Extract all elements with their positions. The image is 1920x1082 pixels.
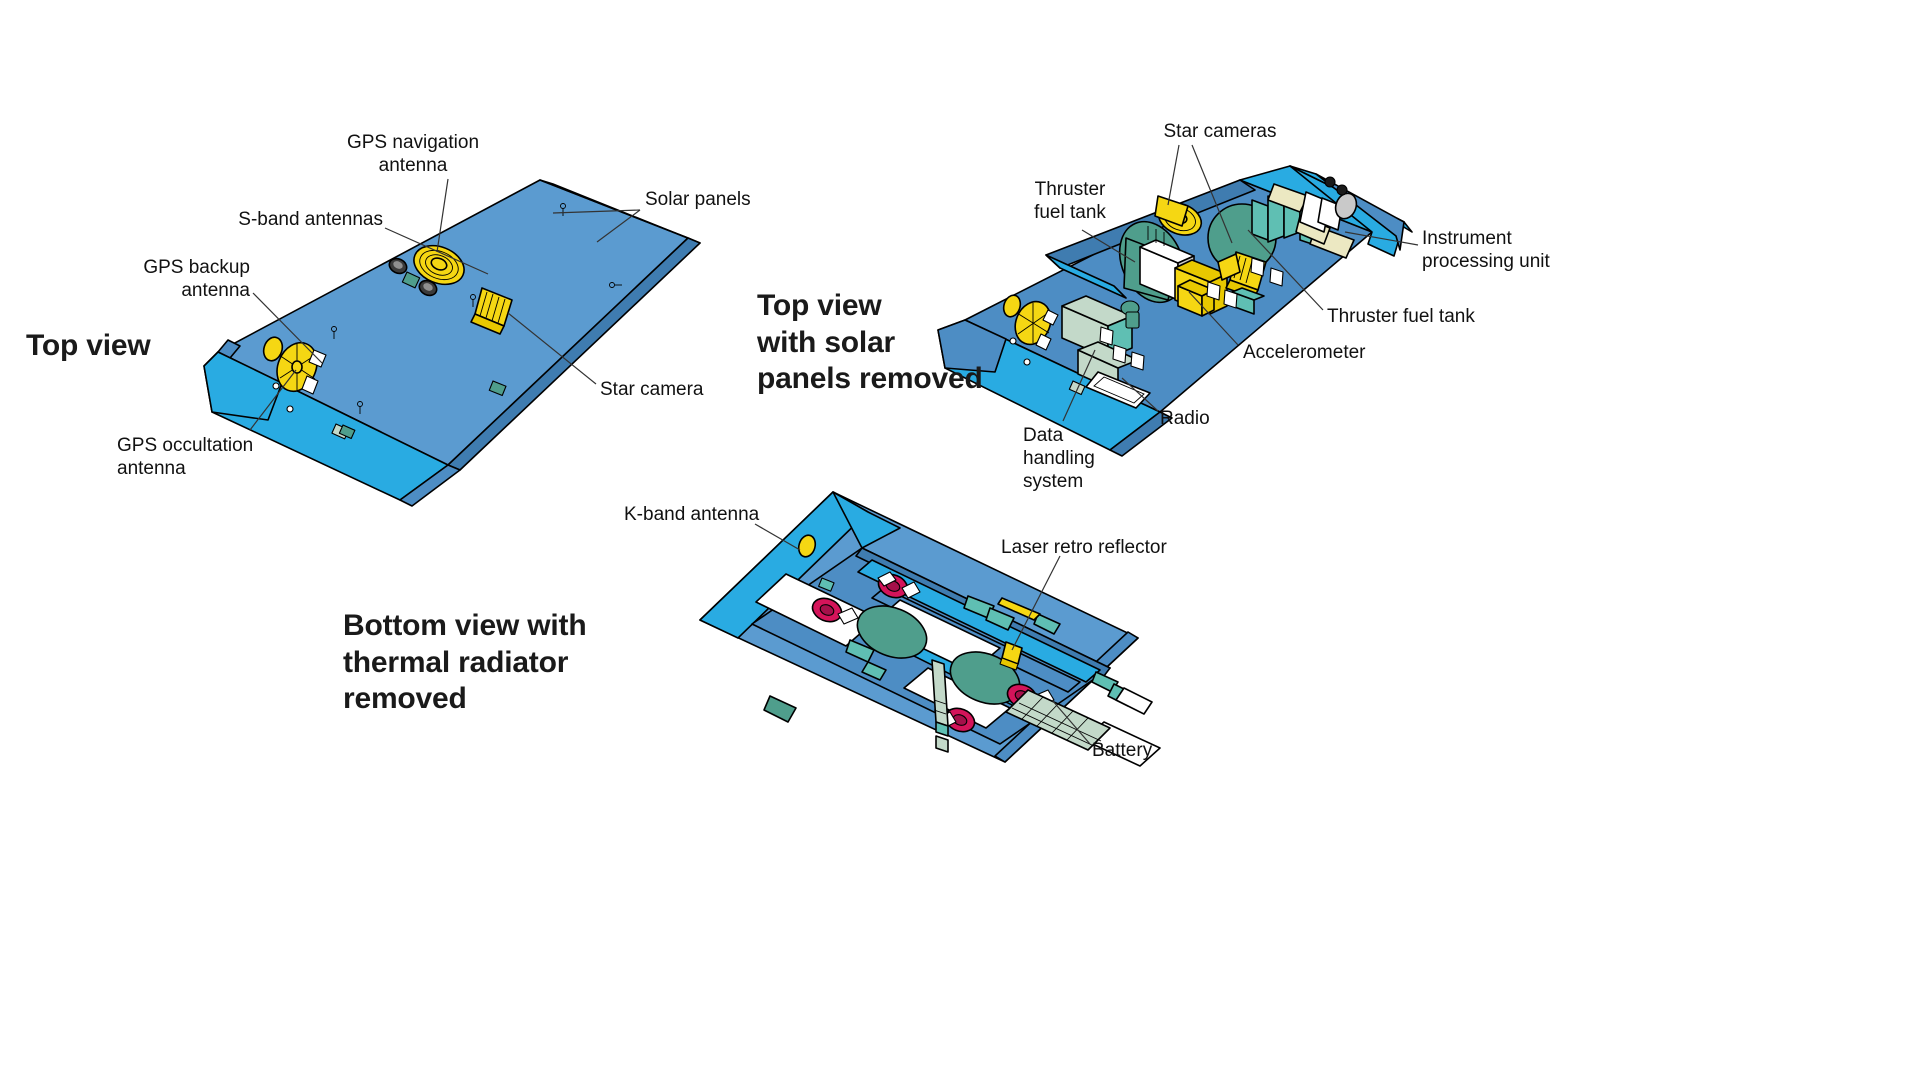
label-laser-retro-reflector: Laser retro reflector xyxy=(1001,536,1261,559)
view-title-bottom-view-thermal-radiator-removed: Bottom view with thermal radiator remove… xyxy=(343,608,586,718)
view-title-top-view: Top view xyxy=(26,328,151,365)
label-k-band-antenna: K-band antenna xyxy=(624,503,854,526)
satellite-diagram-artwork: .ol { stroke:#000; stroke-width:1.6; str… xyxy=(0,0,1920,1082)
label-gps-occultation-antenna: GPS occultation antenna xyxy=(117,434,357,480)
satellite-bottom-view-body xyxy=(700,492,1268,766)
label-accelerometer: Accelerometer xyxy=(1243,341,1433,364)
label-radio: Radio xyxy=(1160,407,1280,430)
figure-canvas: .ol { stroke:#000; stroke-width:1.6; str… xyxy=(0,0,1920,1082)
label-solar-panels: Solar panels xyxy=(645,188,845,211)
label-data-handling-system: Data handling system xyxy=(1023,424,1153,494)
label-thruster-fuel-tank-right: Thruster fuel tank xyxy=(1327,305,1547,328)
label-instrument-processing-unit: Instrument processing unit xyxy=(1422,227,1652,273)
label-s-band-antennas: S-band antennas xyxy=(113,208,383,231)
label-battery: Battery xyxy=(1092,739,1232,762)
label-star-cameras: Star cameras xyxy=(1130,120,1310,143)
label-gps-backup-antenna: GPS backup antenna xyxy=(28,256,250,302)
label-gps-navigation-antenna: GPS navigation antenna xyxy=(318,131,508,177)
label-thruster-fuel-tank-left: Thruster fuel tank xyxy=(1000,178,1140,224)
view-title-top-view-solar-panels-removed: Top view with solar panels removed xyxy=(757,288,983,398)
